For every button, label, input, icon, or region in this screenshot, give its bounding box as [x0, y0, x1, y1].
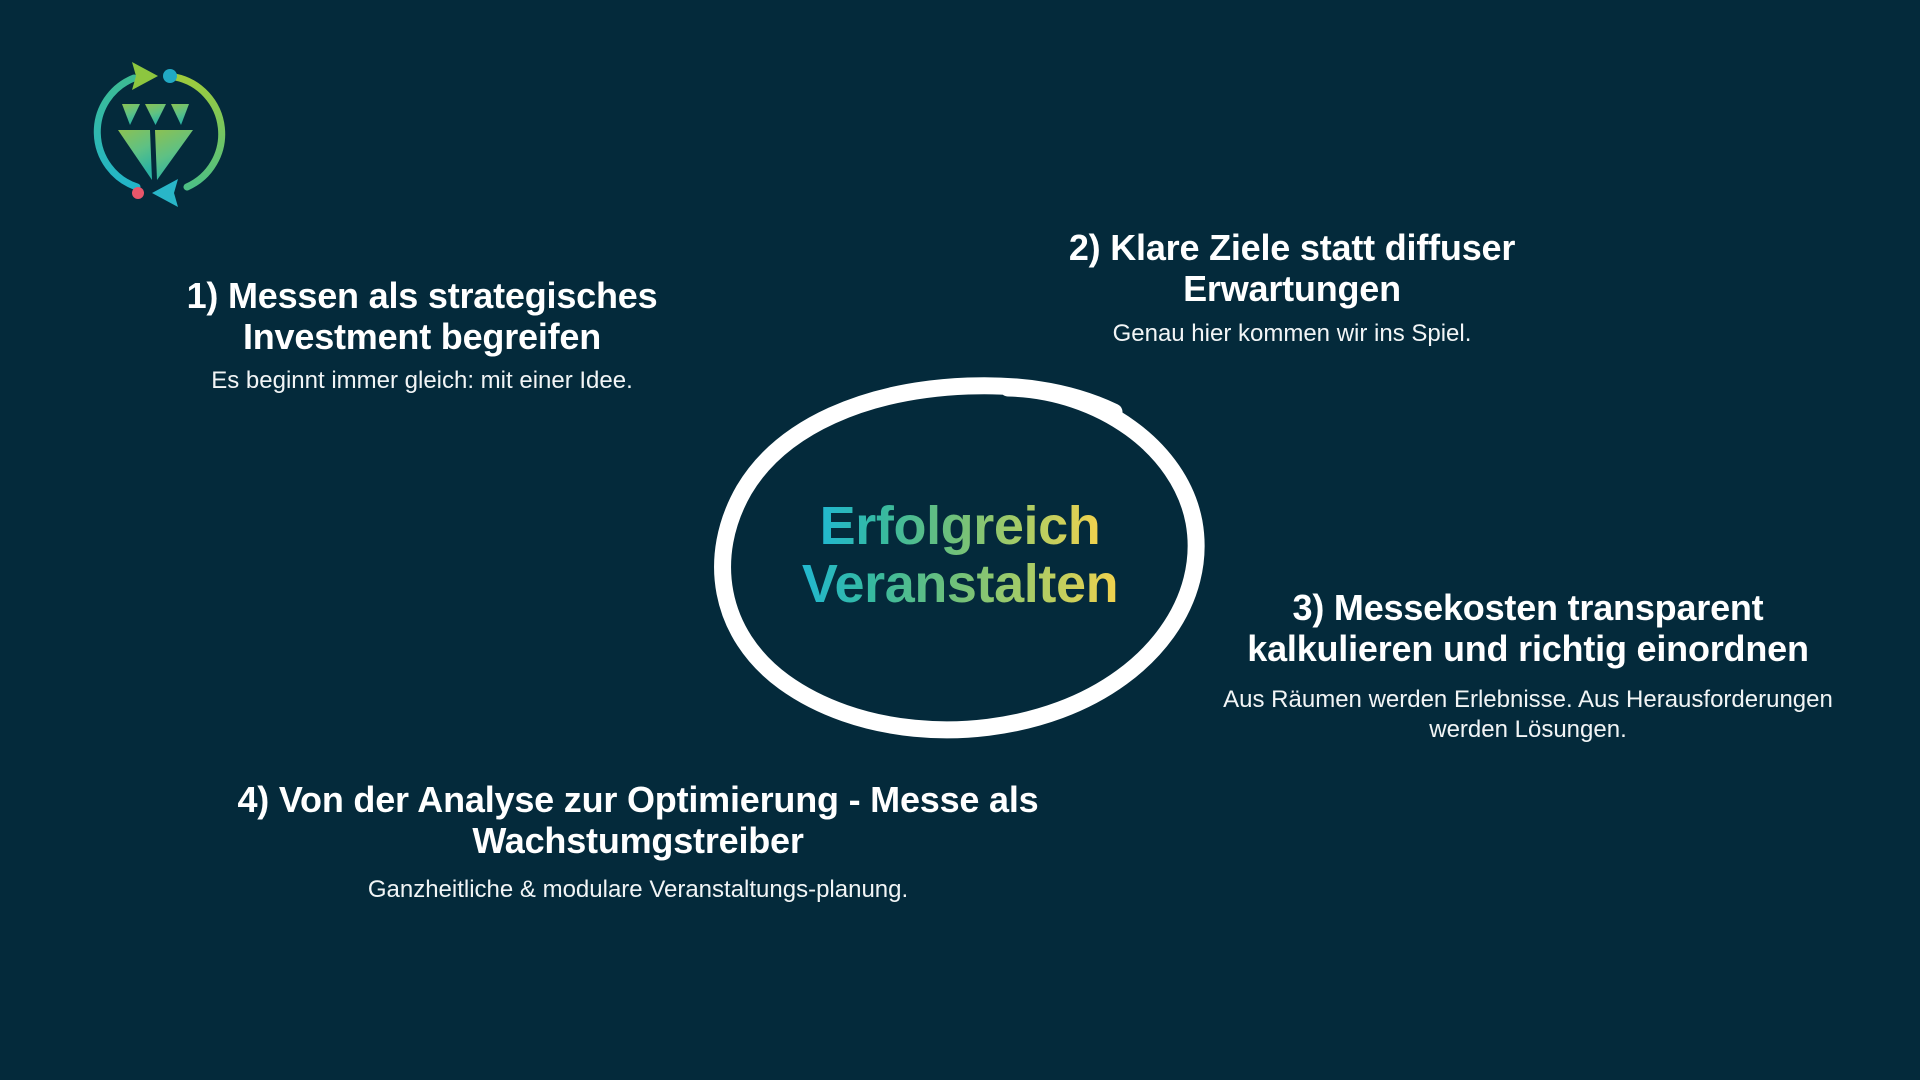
step-block-2: 2) Klare Ziele statt diffuser Erwartunge…	[972, 228, 1612, 349]
step-3-subtitle: Aus Räumen werden Erlebnisse. Aus Heraus…	[1208, 685, 1848, 744]
cycle-dot-top-icon	[163, 69, 177, 83]
hand-drawn-ellipse	[700, 370, 1220, 740]
step-2-subtitle: Genau hier kommen wir ins Spiel.	[972, 319, 1612, 348]
step-4-heading: 4) Von der Analyse zur Optimierung - Mes…	[228, 780, 1048, 861]
cycle-dot-bottom-icon	[132, 187, 144, 199]
step-block-1: 1) Messen als strategisches Investment b…	[112, 276, 732, 396]
cycle-arrow-bottom-icon	[152, 179, 178, 207]
step-4-subtitle: Ganzheitliche & modulare Veranstaltungs-…	[358, 875, 918, 904]
step-1-subtitle: Es beginnt immer gleich: mit einer Idee.	[112, 366, 732, 395]
step-block-3: 3) Messekosten transparent kalkulieren u…	[1208, 588, 1848, 744]
step-block-4: 4) Von der Analyse zur Optimierung - Mes…	[228, 780, 1048, 905]
diamond-icon	[118, 104, 193, 180]
step-2-heading: 2) Klare Ziele statt diffuser Erwartunge…	[972, 228, 1612, 309]
slide-canvas: Erfolgreich Veranstalten 1) Messen als s…	[0, 0, 1920, 1080]
diamond-cycle-logo	[78, 48, 228, 208]
step-1-heading: 1) Messen als strategisches Investment b…	[112, 276, 732, 357]
step-3-heading: 3) Messekosten transparent kalkulieren u…	[1208, 588, 1848, 669]
